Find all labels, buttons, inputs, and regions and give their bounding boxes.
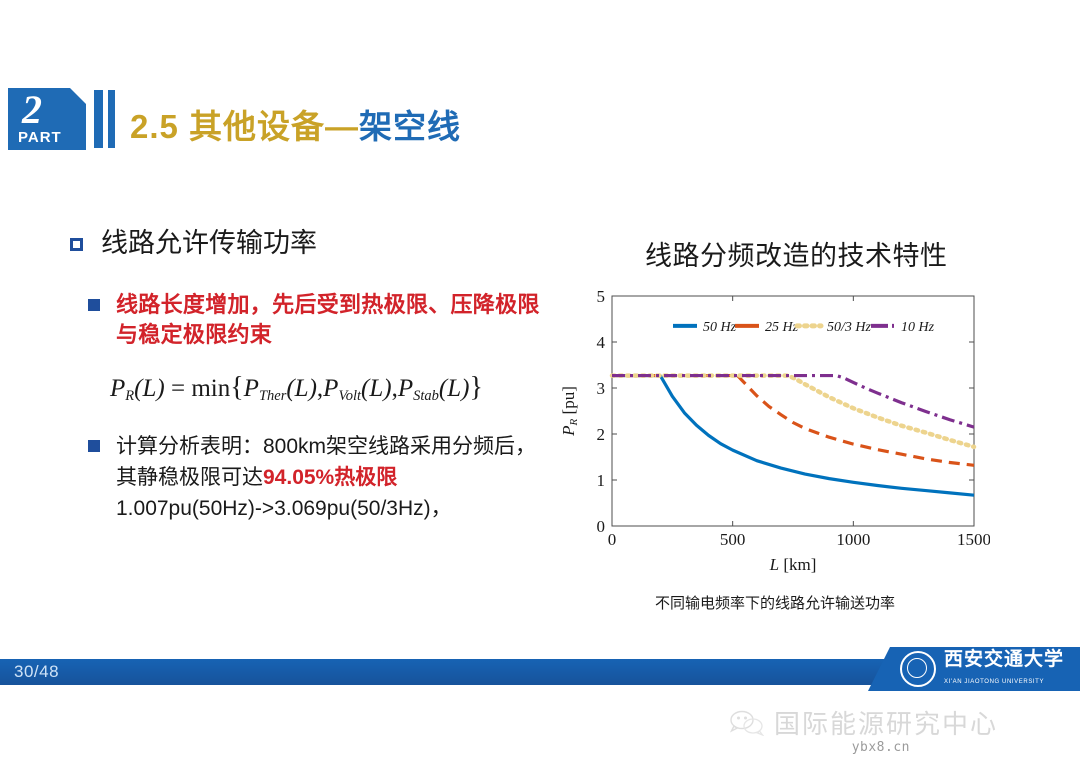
formula-equals: = <box>171 375 185 402</box>
legend-label-50-3-hz: 50/3 Hz <box>827 320 872 335</box>
part-word: PART <box>18 129 62 146</box>
formula-lhs-var: P <box>110 375 125 402</box>
university-logo: 西安交通大学 XI'AN JIAOTONG UNIVERSITY <box>868 647 1080 691</box>
y-tick-label: 0 <box>597 517 606 536</box>
analysis-line-1: 计算分析表明：800km架空线路采用分 <box>116 435 473 458</box>
legend-label-10-hz: 10 Hz <box>901 320 935 335</box>
formula-pr-min: PR(L) = min{PTher(L),PVolt(L),PStab(L)} <box>110 372 540 405</box>
x-axis-label: L [km] <box>769 555 817 574</box>
bullet-level2-limits: 线路长度增加，先后受到热极限、压降极限与稳定极限约束 <box>88 290 540 350</box>
formula-t1-arg: (L) <box>286 375 317 402</box>
bullet-level1-label: 线路允许传输功率 <box>101 226 317 260</box>
formula-t3-var: P <box>398 375 413 402</box>
analysis-line-3: 1.007pu(50Hz)->3.069pu(50/3Hz)， <box>116 497 452 520</box>
title-bar-1 <box>94 90 103 148</box>
formula-t2-arg: (L) <box>361 375 392 402</box>
university-seal-icon <box>900 651 936 687</box>
formula-lhs-arg: (L) <box>134 375 165 402</box>
page-number: 30/48 <box>14 662 59 682</box>
badge-fold-icon <box>70 88 86 104</box>
hollow-square-bullet-icon <box>70 238 83 251</box>
x-tick-label: 0 <box>608 530 617 549</box>
y-tick-label: 3 <box>597 379 606 398</box>
formula-t2-sub: Volt <box>338 388 361 404</box>
page-title: 2.5 其他设备—架空线 <box>130 100 461 148</box>
formula-t2-var: P <box>323 375 338 402</box>
formula-lhs-sub: R <box>125 388 134 404</box>
x-tick-label: 1500 <box>957 530 990 549</box>
part-number: 2 <box>22 88 42 132</box>
formula-t3-arg: (L) <box>439 375 470 402</box>
legend-label-25-hz: 25 Hz <box>765 320 799 335</box>
part-badge: 2 PART <box>8 88 86 150</box>
logo-text-en: XI'AN JIAOTONG UNIVERSITY <box>944 679 1044 685</box>
y-tick-label: 1 <box>597 471 606 490</box>
formula-min-op: min <box>191 375 230 402</box>
slide-canvas: 2 PART 2.5 其他设备—架空线 线路允许传输功率 线路长度增加，先后受到… <box>0 0 1080 763</box>
formula-t3-sub: Stab <box>413 388 439 404</box>
x-tick-label: 1000 <box>836 530 870 549</box>
y-tick-label: 2 <box>597 425 606 444</box>
title-bar-2 <box>108 90 115 148</box>
analysis-highlight: 94.05%热极限 <box>263 466 397 489</box>
chart-caption: 不同输电频率下的线路允许输送功率 <box>560 592 990 613</box>
bullet-level2-analysis-text: 计算分析表明：800km架空线路采用分频后，其静稳极限可达94.05%热极限 1… <box>116 431 540 524</box>
formula-brace-close: } <box>469 372 482 403</box>
watermark-text: 国际能源研究中心 <box>774 704 998 741</box>
y-tick-label: 4 <box>597 333 606 352</box>
logo-text-group: 西安交通大学 XI'AN JIAOTONG UNIVERSITY <box>944 650 1064 688</box>
watermark: 国际能源研究中心 <box>730 704 998 741</box>
watermark-url: ybx8.cn <box>852 740 910 755</box>
bullet-level1-transmission-power: 线路允许传输功率 <box>70 226 540 260</box>
x-tick-label: 500 <box>720 530 746 549</box>
y-axis-label: PR [pu] <box>560 386 580 437</box>
page-title-gold: 2.5 其他设备— <box>130 108 359 145</box>
bullet-level2-label: 线路长度增加，先后受到热极限、压降极限与稳定极限约束 <box>116 290 540 350</box>
right-section-heading: 线路分频改造的技术特性 <box>645 234 948 273</box>
title-accent-bars <box>94 90 115 148</box>
chart-frequency-power: 050010001500012345L [km]PR [pu]50 Hz25 H… <box>560 288 990 578</box>
formula-t1-var: P <box>244 375 259 402</box>
solid-square-bullet-icon-2 <box>88 440 100 452</box>
formula-brace-open: { <box>230 372 243 403</box>
formula-t1-sub: Ther <box>259 388 286 404</box>
y-tick-label: 5 <box>597 288 606 306</box>
solid-square-bullet-icon <box>88 299 100 311</box>
chart-svg: 050010001500012345L [km]PR [pu]50 Hz25 H… <box>560 288 990 578</box>
left-content-column: 线路允许传输功率 线路长度增加，先后受到热极限、压降极限与稳定极限约束 PR(L… <box>70 226 540 546</box>
bullet-level2-analysis: 计算分析表明：800km架空线路采用分频后，其静稳极限可达94.05%热极限 1… <box>88 431 540 524</box>
page-title-blue: 架空线 <box>359 108 461 145</box>
legend-label-50-hz: 50 Hz <box>703 320 737 335</box>
wechat-icon <box>730 710 764 736</box>
logo-text-cn: 西安交通大学 <box>944 649 1064 670</box>
